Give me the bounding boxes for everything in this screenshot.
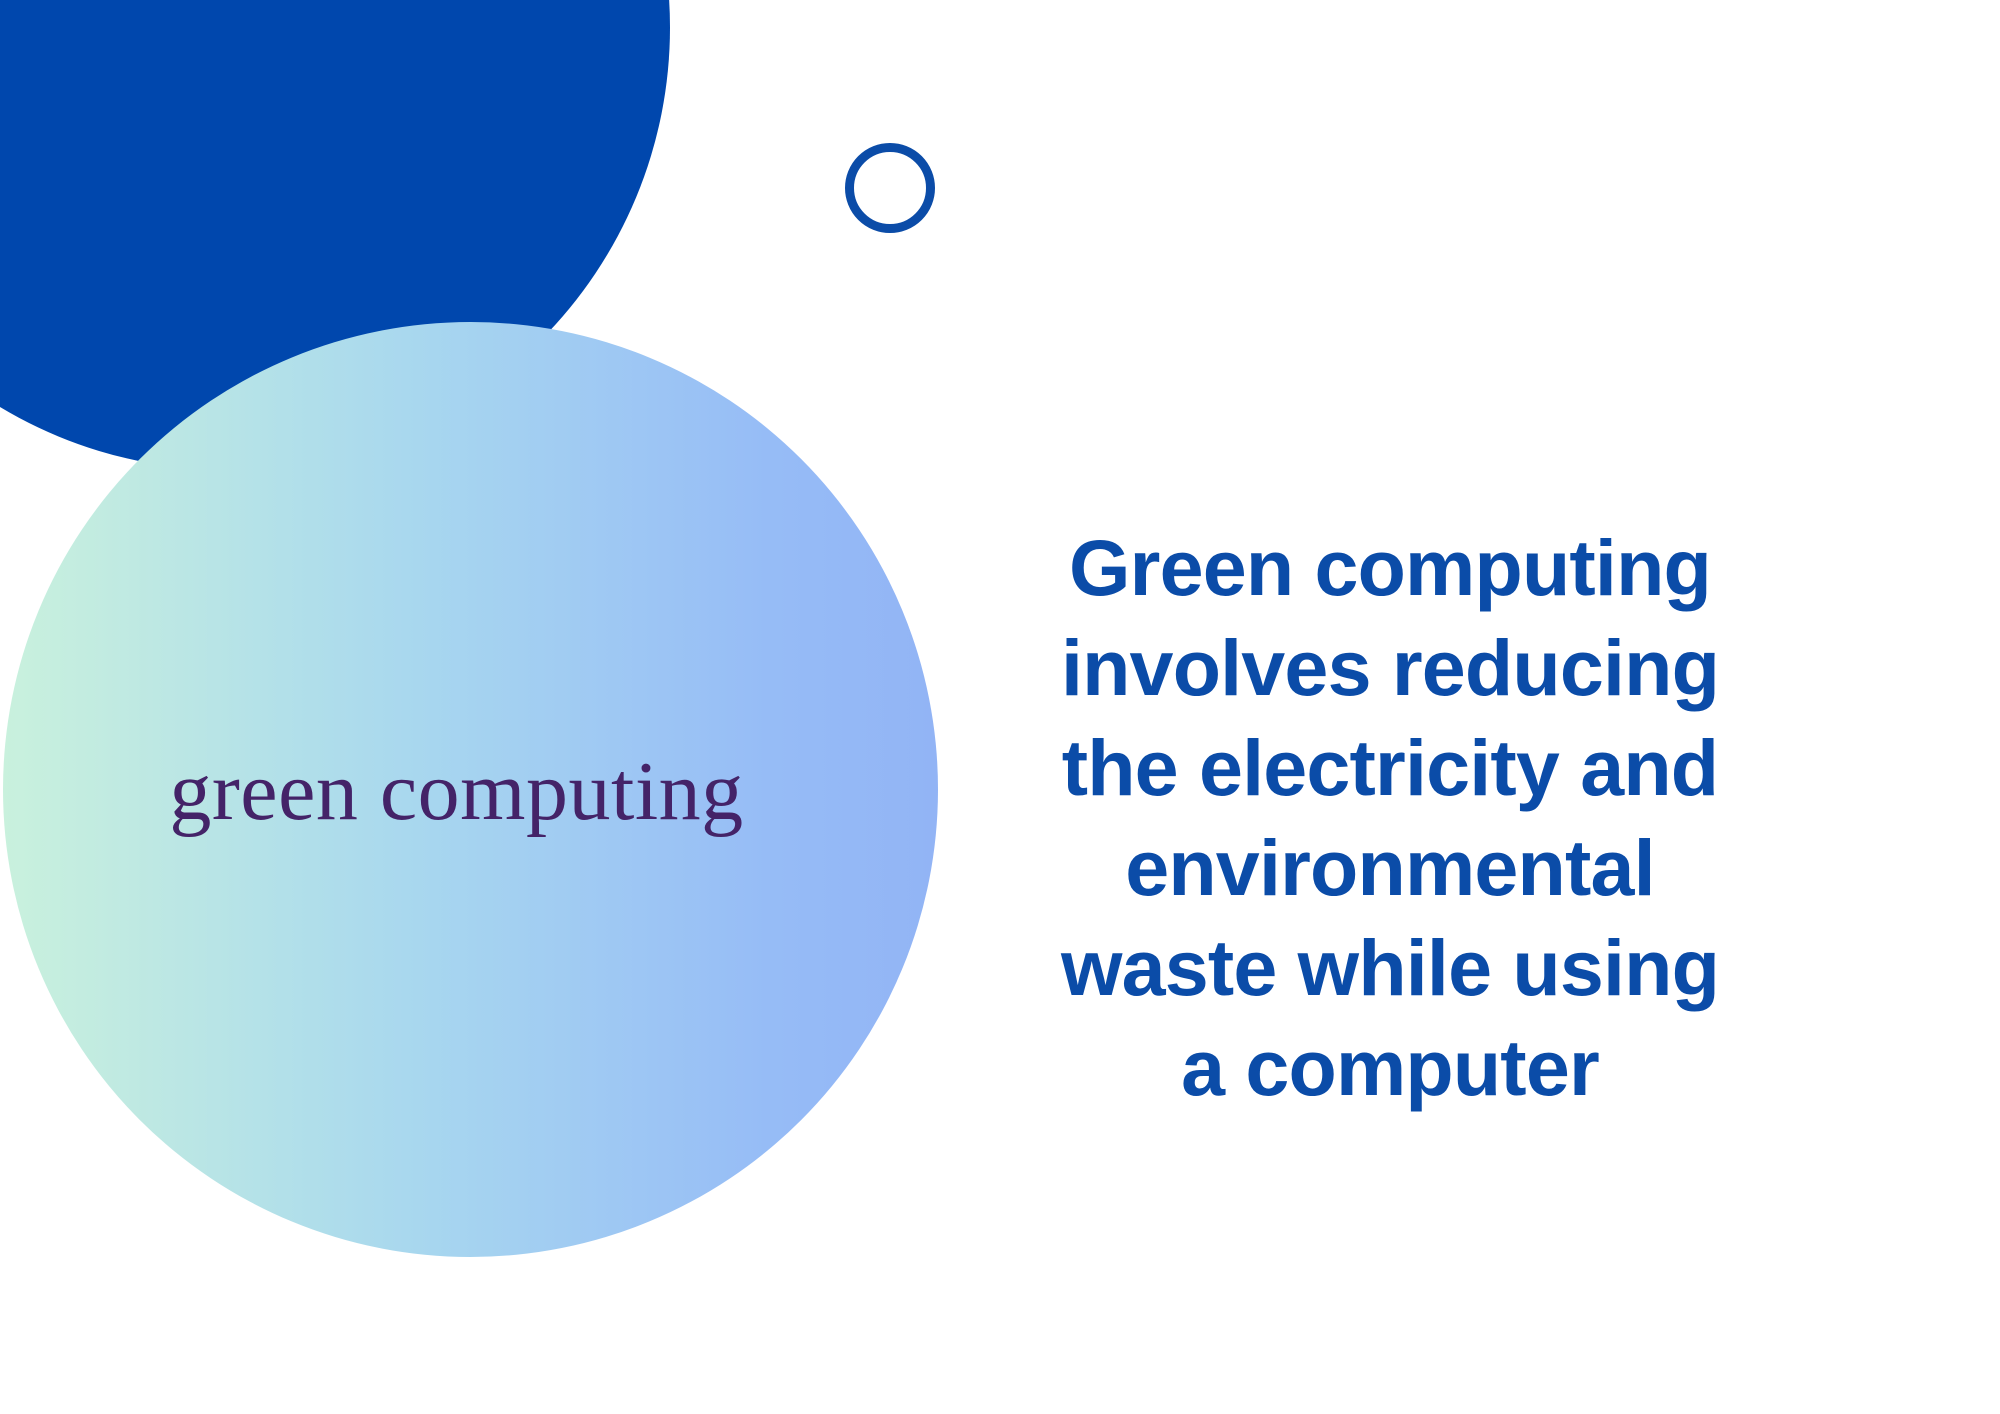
headline-block: Green computing involves reducing the el… bbox=[1000, 518, 1780, 1118]
headline-line-5: waste while using bbox=[1000, 918, 1780, 1018]
headline-line-3: the electricity and bbox=[1000, 718, 1780, 818]
headline-line-6: a computer bbox=[1000, 1018, 1780, 1118]
headline-line-2: involves reducing bbox=[1000, 618, 1780, 718]
headline-line-1: Green computing bbox=[1000, 518, 1780, 618]
outline-ring-circle bbox=[845, 143, 935, 233]
gradient-circle bbox=[3, 322, 938, 1257]
headline-line-4: environmental bbox=[1000, 818, 1780, 918]
slide-canvas: green computing Green computing involves… bbox=[0, 0, 2000, 1414]
